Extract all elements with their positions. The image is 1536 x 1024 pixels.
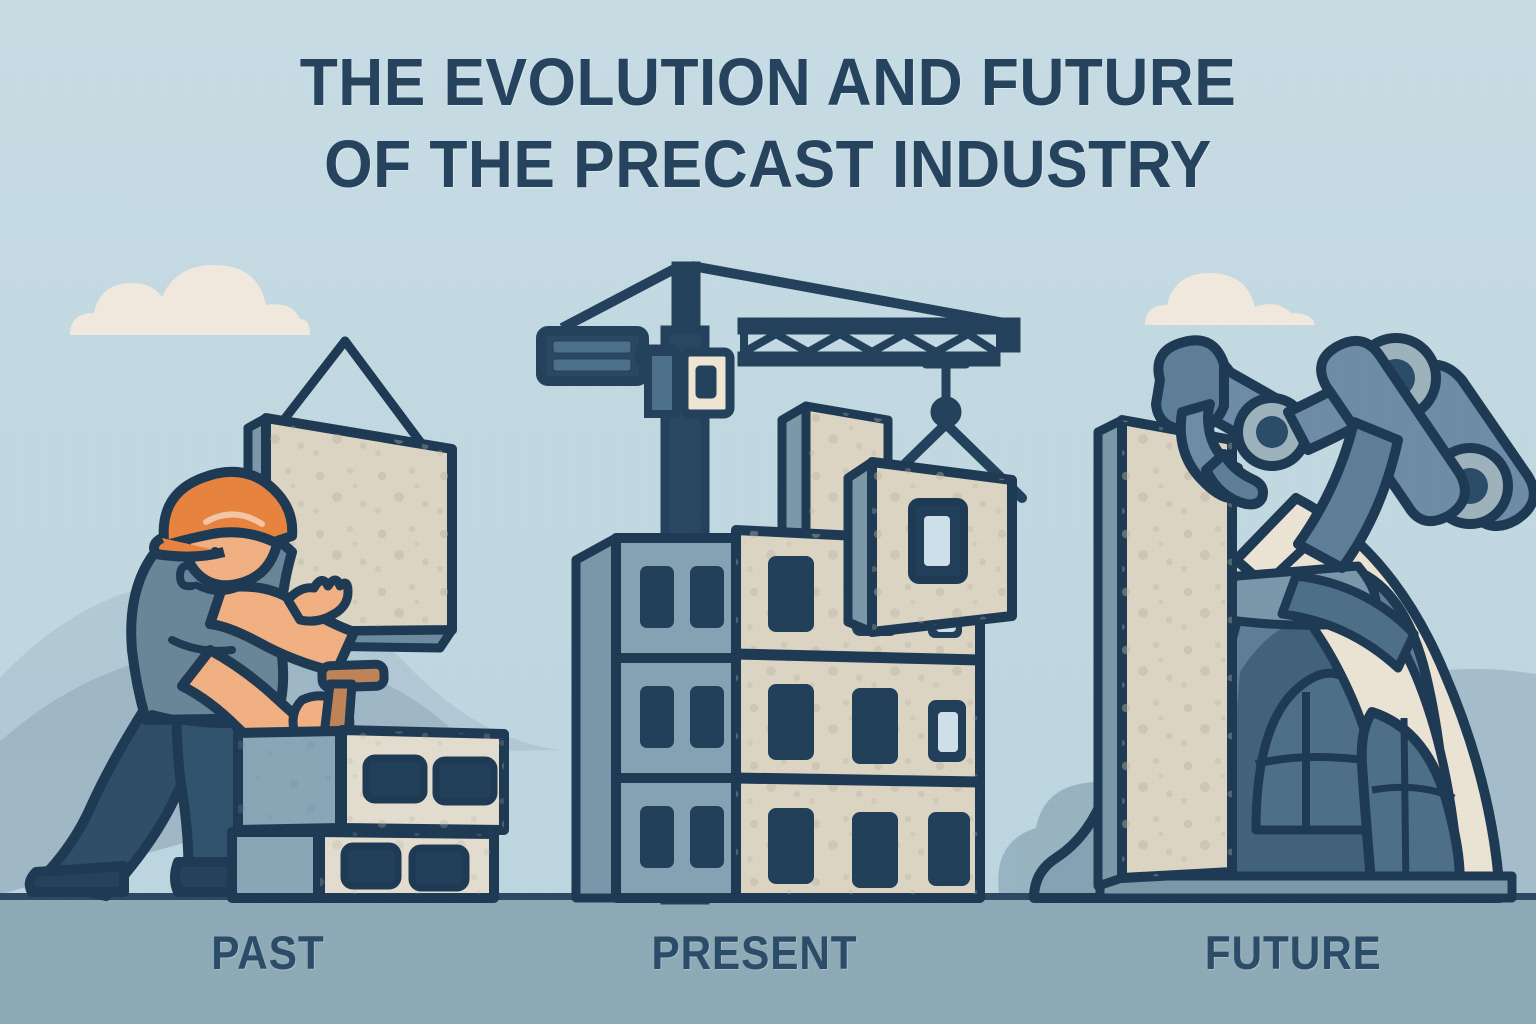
crane-trolley <box>922 352 970 368</box>
window <box>690 566 724 628</box>
block-hole <box>436 760 494 802</box>
window <box>640 686 674 748</box>
block-hole <box>412 848 466 888</box>
block-cream-lower <box>320 832 494 898</box>
window <box>690 806 724 868</box>
crane-jib-tip <box>1000 318 1020 352</box>
window <box>640 806 674 868</box>
scene-present <box>541 262 1022 900</box>
window <box>928 812 970 886</box>
building-side-face <box>576 538 736 898</box>
window-glass <box>938 712 958 752</box>
infographic-canvas: THE EVOLUTION AND FUTURE OF THE PRECAST … <box>0 0 1536 1024</box>
window <box>852 688 898 764</box>
window <box>640 566 674 628</box>
block-hole <box>366 758 424 800</box>
stage-label-future: FUTURE <box>1205 925 1382 980</box>
crane-counterweight <box>541 331 644 381</box>
panel-window-glass <box>924 516 950 566</box>
window <box>852 812 898 888</box>
illustration-artwork <box>0 0 1536 1024</box>
worker-hard-hat <box>164 472 293 546</box>
hoisted-panel-present <box>848 462 1012 632</box>
window <box>768 556 814 632</box>
window <box>690 686 724 748</box>
worker-back-boot <box>30 866 124 892</box>
crane-operator-cab <box>684 352 730 414</box>
stage-label-present: PRESENT <box>651 925 857 980</box>
block-grey-lower <box>232 832 318 898</box>
crane-slew-block <box>648 352 676 414</box>
stage-label-past: PAST <box>211 925 324 980</box>
block-hole <box>344 846 398 886</box>
window <box>768 808 814 884</box>
block-stack-past <box>232 730 504 898</box>
block-cream-upper <box>342 730 504 830</box>
window <box>768 684 814 760</box>
